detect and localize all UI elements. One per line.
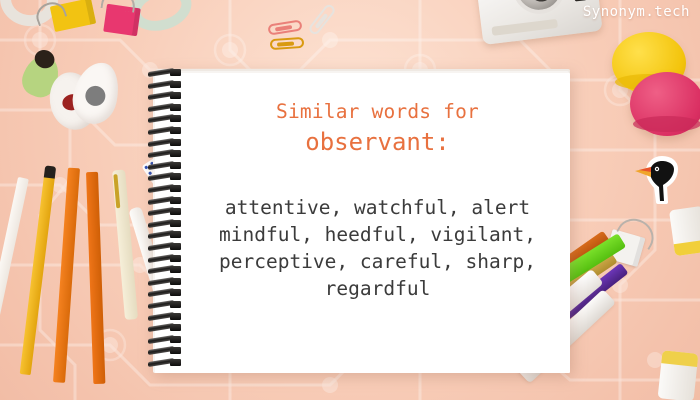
spiral-ring xyxy=(148,221,182,227)
spiral-ring xyxy=(148,348,182,354)
spiral-ring xyxy=(148,337,182,343)
glue-stick-2 xyxy=(658,350,699,400)
spiral-ring xyxy=(148,244,182,250)
page-heading-line1: Similar words for xyxy=(190,100,565,123)
spiral-ring xyxy=(148,325,182,331)
camera-grip xyxy=(491,19,558,36)
spiral-ring xyxy=(148,290,182,296)
spiral-ring xyxy=(148,302,182,308)
spiral-ring xyxy=(148,174,182,180)
spiral-ring xyxy=(148,198,182,204)
page-content: Similar words for observant: attentive, … xyxy=(190,72,565,372)
synonym-line: regardful xyxy=(190,275,565,302)
binder-clip-pink xyxy=(103,4,141,36)
spiral-ring xyxy=(148,93,182,99)
spiral-ring xyxy=(148,209,182,215)
paper-clip-gold xyxy=(270,37,305,50)
toucan-sticker xyxy=(632,152,682,210)
synonym-line: mindful, heedful, vigilant, xyxy=(190,221,565,248)
page-heading-query-word: observant: xyxy=(190,128,565,156)
synonym-line: attentive, watchful, alert xyxy=(190,194,565,221)
notebook: Similar words for observant: attentive, … xyxy=(150,72,572,374)
spiral-ring xyxy=(148,267,182,273)
camera-button-icon xyxy=(573,0,586,2)
spiral-binding xyxy=(148,68,188,376)
synonym-list: attentive, watchful, alert mindful, heed… xyxy=(190,194,565,302)
spiral-ring xyxy=(148,116,182,122)
spiral-ring xyxy=(148,105,182,111)
spiral-ring xyxy=(148,82,182,88)
site-logo: Synonym.tech xyxy=(583,4,690,20)
spiral-ring xyxy=(148,279,182,285)
spiral-ring xyxy=(148,232,182,238)
macaron-pink xyxy=(630,72,700,136)
spiral-ring xyxy=(148,70,182,76)
spiral-ring xyxy=(148,360,182,366)
spiral-ring xyxy=(148,163,182,169)
spiral-ring xyxy=(148,186,182,192)
spiral-ring xyxy=(148,128,182,134)
camera-lens-icon xyxy=(510,0,568,17)
spiral-ring xyxy=(148,140,182,146)
spiral-ring xyxy=(148,151,182,157)
synonym-line: perceptive, careful, sharp, xyxy=(190,248,565,275)
glue-stick xyxy=(669,206,700,256)
spiral-ring xyxy=(148,256,182,262)
spiral-ring xyxy=(148,314,182,320)
